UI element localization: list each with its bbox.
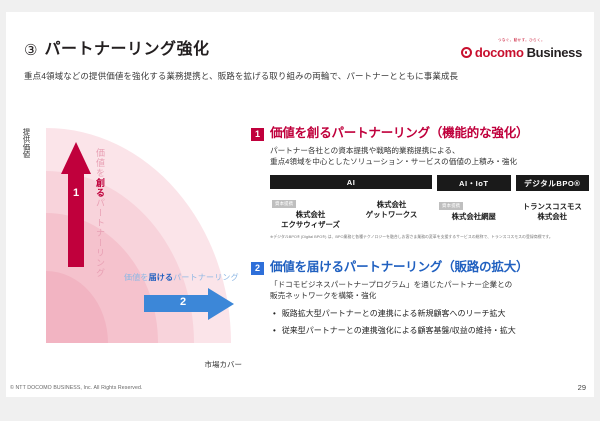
value-delivery-arrow: 2 xyxy=(144,288,234,320)
badge-spacer xyxy=(516,194,589,202)
company-name-line1: 株式会社 xyxy=(270,210,351,220)
section1-badge: 1 xyxy=(251,128,264,141)
positioning-diagram: 提供価値 1 価値を創るパートナーリング 価値を届けるパートナーリング 2 市場… xyxy=(16,120,244,370)
title-number: ③ xyxy=(24,43,37,58)
label-deliver-accent: 届ける xyxy=(149,273,174,282)
section-value-delivery: 2 価値を届けるパートナーリング（販路の拡大） 「ドコモビジネスパートナープログ… xyxy=(251,260,589,342)
value-creation-arrow: 1 xyxy=(61,142,91,267)
title-label: パートナーリング強化 xyxy=(44,42,209,58)
label-create-prefix: 価値を xyxy=(95,148,105,178)
company-getworks: 株式会社 ゲットワークス xyxy=(351,192,432,229)
page-subtitle: 重点4領域などの提供価値を強化する業務提携と、販路を拡げる取り組みの両輪で、パー… xyxy=(24,70,458,82)
section2-title: 価値を届けるパートナーリング（販路の拡大） xyxy=(270,260,528,275)
company-exawizards: 資本提携 株式会社 エクサウィザーズ xyxy=(270,192,351,229)
bullet-text: 従来型パートナーとの連携強化による顧客基盤/収益の維持・拡大 xyxy=(282,325,516,336)
arrow-right-number: 2 xyxy=(144,296,222,308)
capital-alliance-badge: 資本提携 xyxy=(272,200,296,208)
bullet-dot-icon: • xyxy=(273,325,276,336)
bullet-dot-icon: • xyxy=(273,308,276,319)
company-transcosmos: トランスコスモス 株式会社 xyxy=(516,194,589,221)
company-name-line1: 株式会社 xyxy=(351,200,432,210)
arrow-up-number: 1 xyxy=(61,187,91,199)
logo-business-text: Business xyxy=(527,45,582,60)
section1-desc-line2: 重点4領域を中心としたソリューション・サービスの価値の上積み・強化 xyxy=(270,157,589,168)
value-delivery-label: 価値を届けるパートナーリング xyxy=(124,272,239,283)
value-creation-label: 価値を創るパートナーリング xyxy=(94,148,106,278)
table-column-ai: AI 資本提携 株式会社 エクサウィザーズ 株式会社 ゲットワークス xyxy=(270,175,432,229)
column-header-ai: AI xyxy=(270,175,432,189)
section1-title: 価値を創るパートナーリング（機能的な強化） xyxy=(270,126,528,141)
arrow-up-head-icon xyxy=(61,142,91,174)
table-column-ai-iot: AI・IoT 資本提携 株式会社網屋 xyxy=(437,175,510,229)
label-create-suffix: パートナーリング xyxy=(95,198,105,278)
list-item: • 販路拡大型パートナーとの連携による新規顧客へのリーチ拡大 xyxy=(273,308,589,319)
section2-desc-line1: 「ドコモビジネスパートナープログラム」を通じたパートナー企業との xyxy=(270,280,589,291)
capital-alliance-badge: 資本提携 xyxy=(439,202,463,210)
x-axis-label: 市場カバー xyxy=(205,359,243,370)
label-create-accent: 創る xyxy=(95,178,105,198)
bullet-text: 販路拡大型パートナーとの連携による新規顧客へのリーチ拡大 xyxy=(282,308,506,319)
company-amiya: 資本提携 株式会社網屋 xyxy=(437,194,510,222)
badge-spacer xyxy=(351,192,432,200)
company-name-line1: 株式会社網屋 xyxy=(437,212,510,222)
list-item: • 従来型パートナーとの連携強化による顧客基盤/収益の維持・拡大 xyxy=(273,325,589,336)
slide-canvas: ③ パートナーリング強化 重点4領域などの提供価値を強化する業務提携と、販路を拡… xyxy=(6,12,594,397)
trademark-footnote: ※デジタルBPO® (Digital BPO®) は、BPO業務と各種テクノロジ… xyxy=(270,234,589,239)
company-name-line2: 株式会社 xyxy=(516,212,589,222)
docomo-mark-icon xyxy=(461,47,472,58)
section2-bullet-list: • 販路拡大型パートナーとの連携による新規顧客へのリーチ拡大 • 従来型パートナ… xyxy=(273,308,589,336)
table-column-digital-bpo: デジタルBPO® トランスコスモス 株式会社 xyxy=(516,175,589,229)
page-title: ③ パートナーリング強化 xyxy=(24,42,209,58)
section-value-creation: 1 価値を創るパートナーリング（機能的な強化） パートナー各社との資本提携や戦略… xyxy=(251,126,589,239)
copyright-notice: © NTT DOCOMO BUSINESS, Inc. All Rights R… xyxy=(10,385,142,391)
company-name-line2: エクサウィザーズ xyxy=(270,220,351,230)
company-name-line1: トランスコスモス xyxy=(516,202,589,212)
logo-tagline: つなぐ。動かす。ひらく。 xyxy=(461,38,582,43)
column-header-ai-iot: AI・IoT xyxy=(437,175,510,191)
section1-desc-line1: パートナー各社との資本提携や戦略的業務提携による、 xyxy=(270,146,589,157)
logo-docomo-text: docomo xyxy=(475,45,524,60)
y-axis-label: 提供価値 xyxy=(18,128,31,158)
partner-table: AI 資本提携 株式会社 エクサウィザーズ 株式会社 ゲットワークス AI・Io… xyxy=(270,175,589,229)
page-number: 29 xyxy=(578,383,586,392)
section2-badge: 2 xyxy=(251,262,264,275)
company-name-line2: ゲットワークス xyxy=(351,210,432,220)
docomo-business-logo: つなぐ。動かす。ひらく。 docomo Business xyxy=(461,38,582,60)
label-deliver-suffix: パートナーリング xyxy=(173,273,239,282)
section2-desc-line2: 販売ネットワークを構築・強化 xyxy=(270,291,589,302)
column-header-digital-bpo: デジタルBPO® xyxy=(516,175,589,191)
label-deliver-prefix: 価値を xyxy=(124,273,149,282)
